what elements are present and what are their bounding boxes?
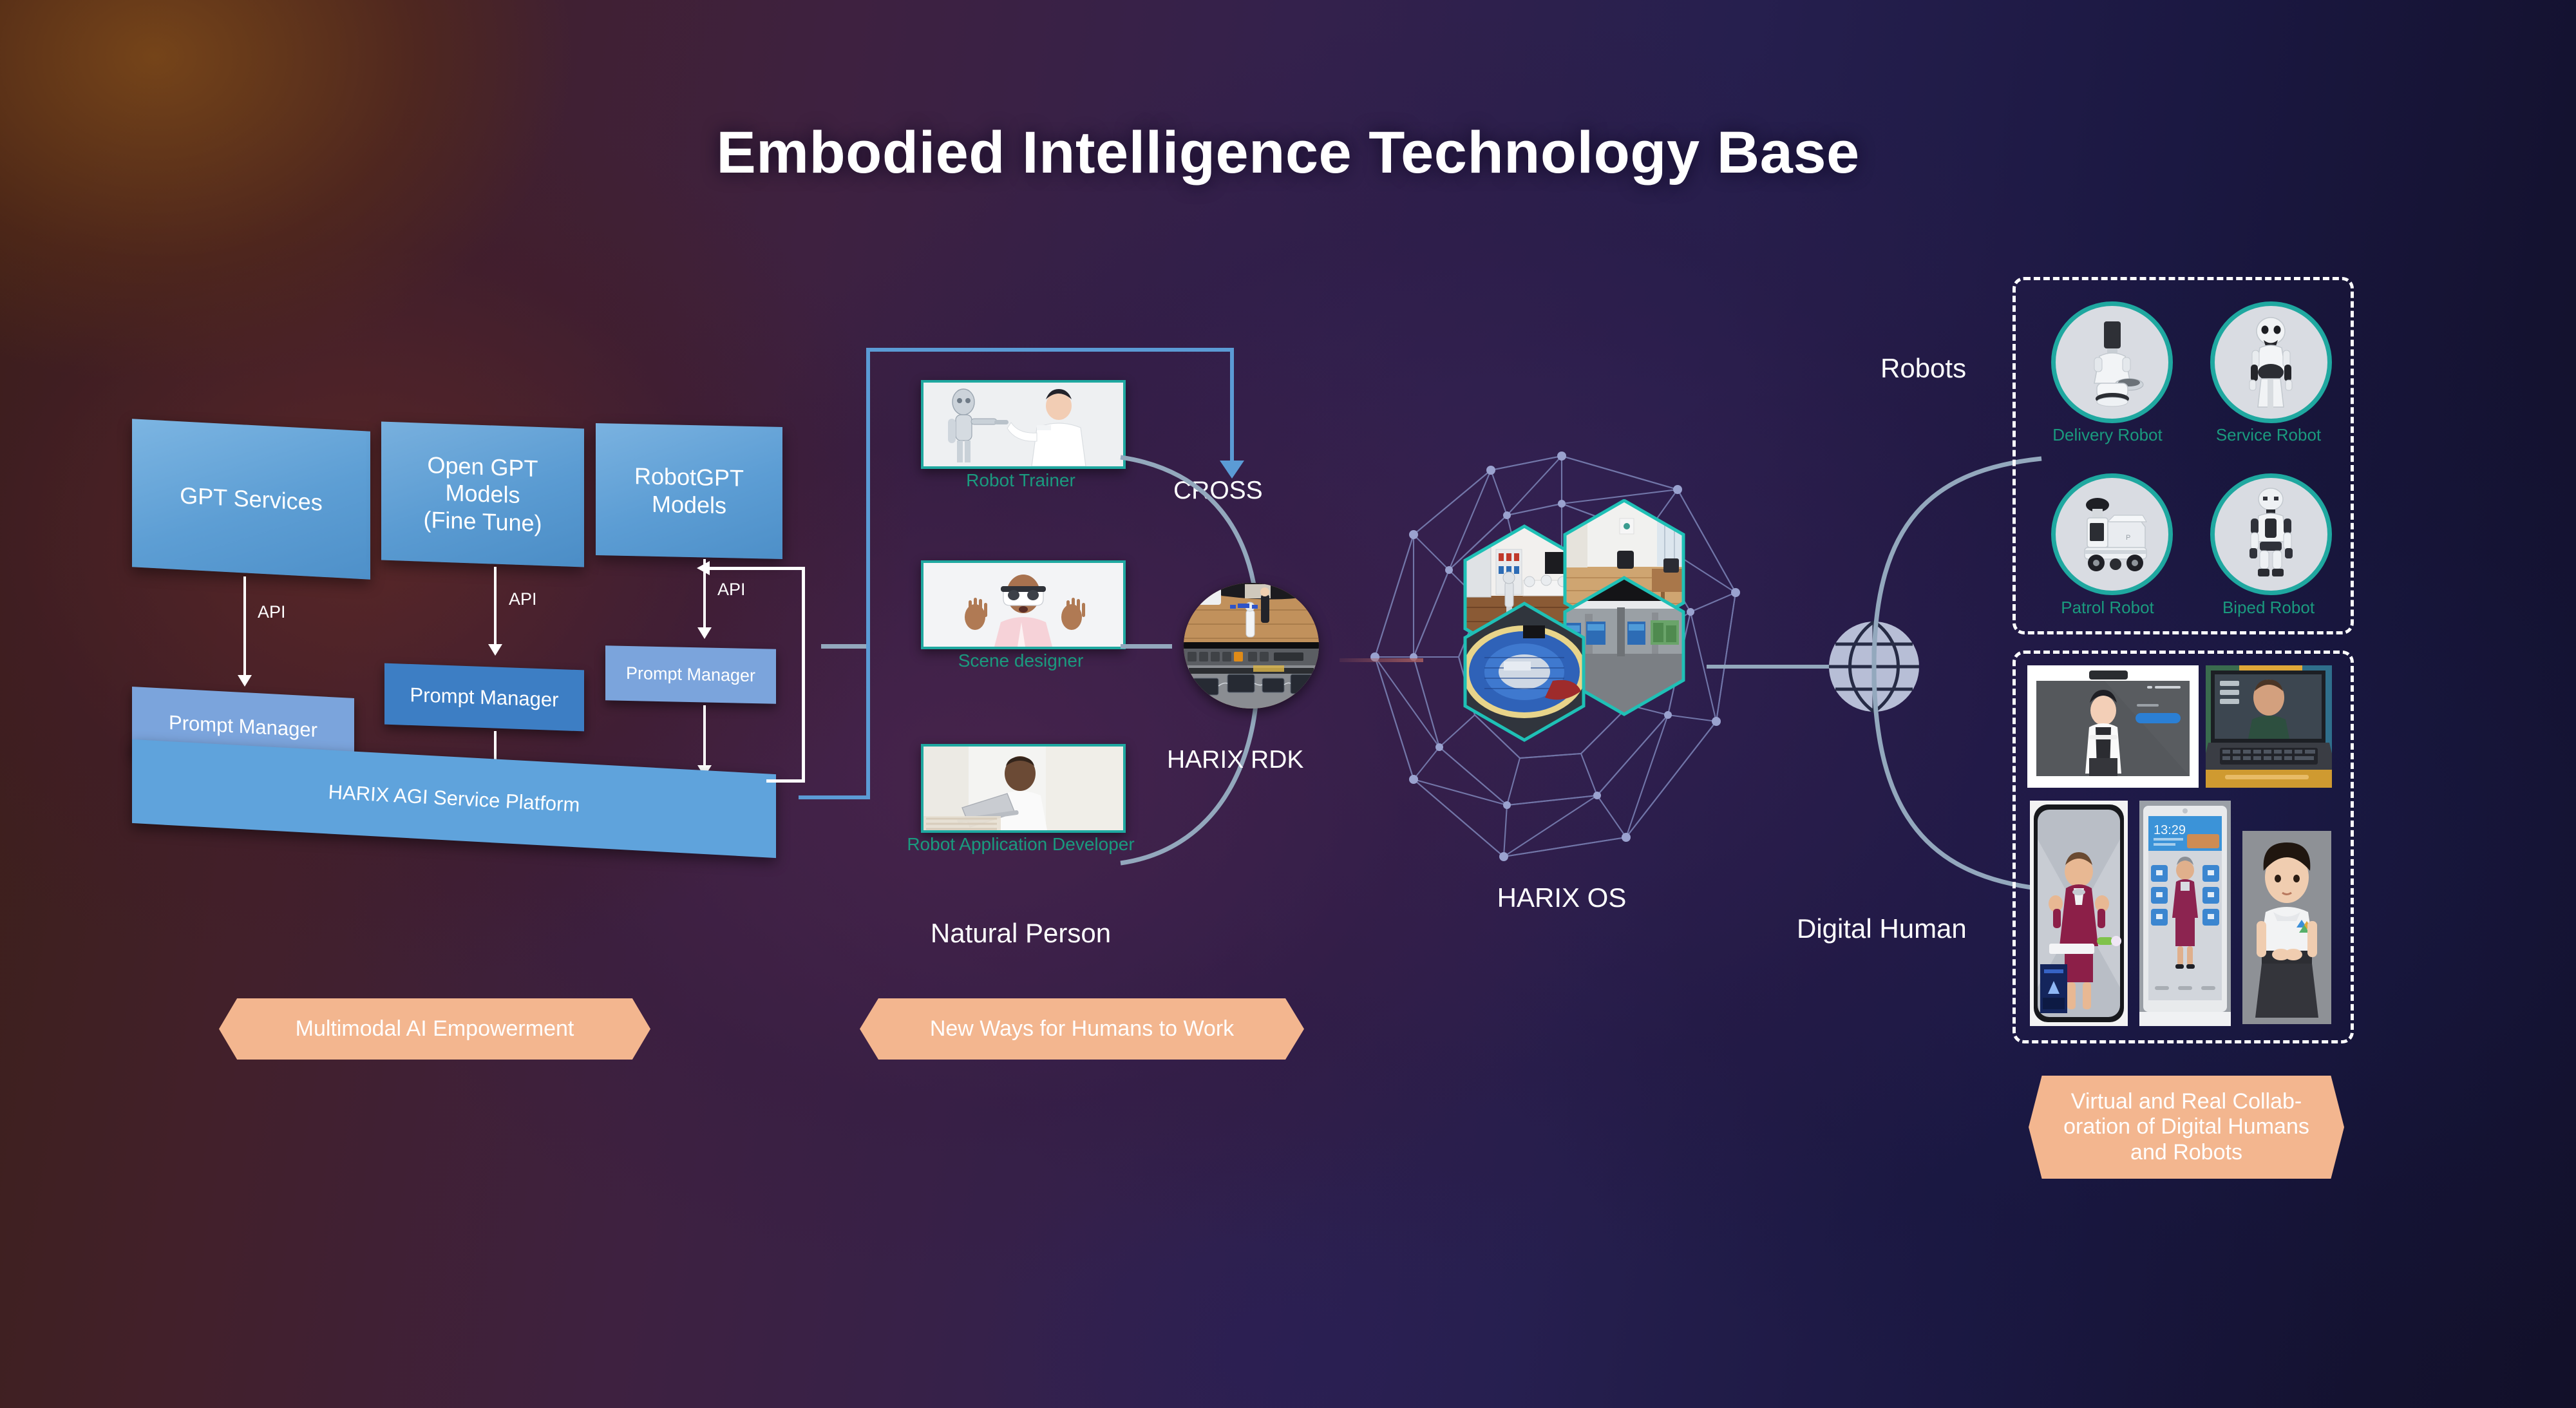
block-robotgpt-models-label: RobotGPT Models bbox=[634, 462, 744, 520]
robot-service-robot-label: Service Robot bbox=[2190, 425, 2347, 445]
scene-designer-illustration bbox=[923, 563, 1123, 647]
middle-bracket-stub-left bbox=[821, 644, 866, 649]
feedback-loop-horizontal-bottom bbox=[766, 779, 805, 783]
banner-multimodal-ai-empowerment[interactable]: Multimodal AI Empowerment bbox=[219, 998, 650, 1060]
harix-os-label: HARIX OS bbox=[1407, 882, 1716, 913]
harix-os-hex-tiles[interactable] bbox=[1426, 499, 1716, 783]
platform-arrow-3 bbox=[703, 705, 706, 766]
banner-new-ways-for-humans-to-work-label: New Ways for Humans to Work bbox=[930, 1016, 1234, 1042]
robot-trainer-photo bbox=[923, 383, 1123, 466]
card-robot-application-developer[interactable] bbox=[921, 744, 1126, 833]
api-label-1: API bbox=[258, 602, 286, 622]
patrol-robot-illustration: P bbox=[2070, 496, 2154, 573]
digital-human-tile-kiosk-avatar-screen[interactable] bbox=[2027, 665, 2199, 788]
scene-designer-photo bbox=[923, 563, 1123, 647]
robot-application-developer-photo bbox=[923, 747, 1123, 830]
laptop-avatar-illustration bbox=[2206, 665, 2332, 788]
svg-text:P: P bbox=[2126, 534, 2130, 542]
robot-service-robot-icon[interactable] bbox=[2210, 301, 2332, 423]
biped-robot-illustration bbox=[2234, 488, 2308, 581]
middle-bracket-top bbox=[866, 348, 1233, 352]
block-open-gpt-models-label: Open GPT Models (Fine Tune) bbox=[423, 452, 542, 538]
middle-bracket-vertical bbox=[866, 348, 870, 799]
harix-rdk-label: HARIX RDK bbox=[1167, 746, 1303, 774]
banner-virtual-and-real-collaboration-label: Virtual and Real Collab- oration of Digi… bbox=[2063, 1089, 2309, 1165]
phone-avatar-illustration bbox=[2030, 801, 2128, 1026]
sphere-connector-left bbox=[1340, 658, 1423, 662]
prompt-manager-1-label: Prompt Manager bbox=[169, 710, 317, 741]
delivery-robot-illustration bbox=[2074, 318, 2151, 408]
api-arrow-1 bbox=[243, 576, 246, 676]
digital-human-tile-tablet-kiosk-avatar[interactable]: 13:29 bbox=[2139, 801, 2231, 1026]
digital-human-tile-laptop-video-avatar[interactable] bbox=[2206, 665, 2332, 788]
harix-rdk-illustration bbox=[1184, 583, 1319, 709]
natural-person-label: Natural Person bbox=[869, 918, 1172, 949]
middle-bracket-bottom bbox=[799, 795, 870, 799]
digital-human-label: Digital Human bbox=[1797, 913, 1967, 944]
banner-multimodal-ai-empowerment-label: Multimodal AI Empowerment bbox=[296, 1016, 574, 1042]
developer-illustration bbox=[923, 747, 1123, 830]
block-open-gpt-models[interactable]: Open GPT Models (Fine Tune) bbox=[381, 422, 584, 567]
block-gpt-services-label: GPT Services bbox=[180, 482, 322, 517]
banner-virtual-and-real-collaboration[interactable]: Virtual and Real Collab- oration of Digi… bbox=[2029, 1076, 2344, 1179]
robot-biped-robot-label: Biped Robot bbox=[2190, 598, 2347, 618]
robot-patrol-robot-icon[interactable]: P bbox=[2051, 473, 2173, 595]
service-robot-illustration bbox=[2234, 317, 2308, 408]
feedback-loop-vertical bbox=[802, 567, 805, 783]
tablet-kiosk-illustration: 13:29 bbox=[2139, 801, 2231, 1026]
rdk-connector-left bbox=[1121, 644, 1172, 649]
robot-trainer-illustration bbox=[923, 383, 1123, 466]
harix-rdk-thumbnail[interactable] bbox=[1184, 583, 1319, 709]
api-label-3: API bbox=[717, 580, 746, 600]
robot-patrol-robot-label: Patrol Robot bbox=[2029, 598, 2186, 618]
feedback-loop-arrowhead bbox=[697, 561, 710, 575]
card-robot-trainer-caption: Robot Trainer bbox=[921, 470, 1121, 491]
banner-new-ways-for-humans-to-work[interactable]: New Ways for Humans to Work bbox=[860, 998, 1304, 1060]
prompt-manager-2-label: Prompt Manager bbox=[410, 683, 559, 711]
robot-delivery-robot-label: Delivery Robot bbox=[2029, 425, 2186, 445]
kiosk-avatar-illustration bbox=[2027, 665, 2199, 788]
card-scene-designer-caption: Scene designer bbox=[921, 651, 1121, 671]
api-label-2: API bbox=[509, 589, 537, 609]
api-arrow-2 bbox=[494, 567, 497, 645]
prompt-manager-3[interactable]: Prompt Manager bbox=[605, 645, 776, 704]
block-robotgpt-models[interactable]: RobotGPT Models bbox=[596, 423, 782, 559]
digital-human-tile-phone-avatar[interactable] bbox=[2030, 801, 2128, 1026]
card-scene-designer[interactable] bbox=[921, 560, 1126, 649]
block-gpt-services[interactable]: GPT Services bbox=[132, 419, 370, 579]
svg-text:13:29: 13:29 bbox=[2154, 823, 2186, 837]
robot-delivery-robot-icon[interactable] bbox=[2051, 301, 2173, 423]
feedback-loop-horizontal-top bbox=[708, 567, 805, 570]
page-title: Embodied Intelligence Technology Base bbox=[0, 119, 2576, 187]
robot-biped-robot-icon[interactable] bbox=[2210, 473, 2332, 595]
card-robot-trainer[interactable] bbox=[921, 380, 1126, 469]
prompt-manager-3-label: Prompt Manager bbox=[626, 663, 755, 686]
digital-human-tile-avatar-portrait[interactable] bbox=[2242, 831, 2331, 1024]
avatar-portrait-illustration bbox=[2242, 831, 2331, 1024]
diagram-canvas: Embodied Intelligence Technology Base GP… bbox=[0, 0, 2576, 1408]
harix-agi-service-platform-label: HARIX AGI Service Platform bbox=[130, 740, 777, 857]
prompt-manager-2[interactable]: Prompt Manager bbox=[384, 663, 584, 732]
robots-label: Robots bbox=[1880, 353, 1966, 384]
